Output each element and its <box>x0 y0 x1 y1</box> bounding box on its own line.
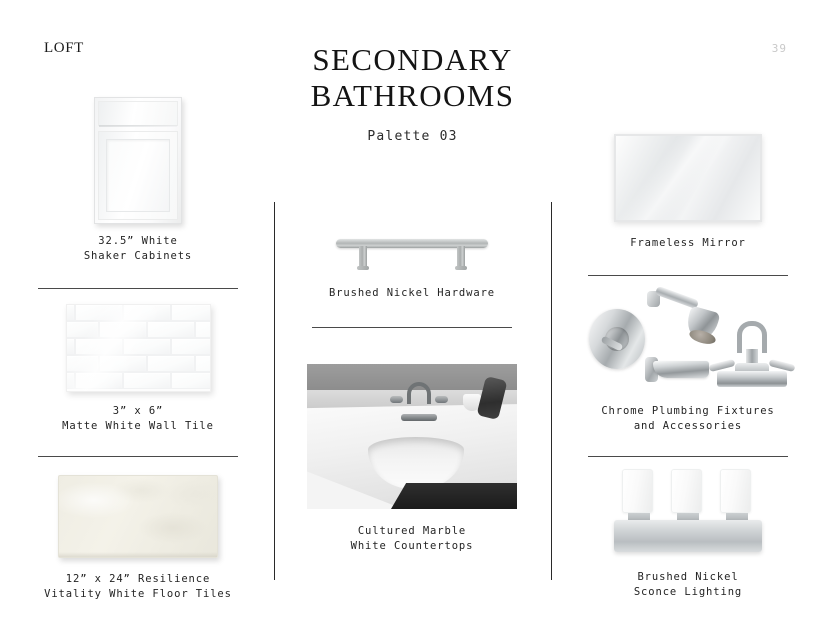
white-shaker-cabinet-door-icon <box>94 97 182 224</box>
mirror-figure <box>568 130 808 222</box>
tile-brick <box>66 304 75 321</box>
mood-board: LOFT 39 SECONDARY BATHROOMS Palette 03 3… <box>0 0 825 638</box>
lavatory-faucet-icon <box>713 321 791 387</box>
divider-left-1 <box>38 288 238 289</box>
tile-row <box>66 355 211 372</box>
shaker-cabinet-figure <box>18 74 258 224</box>
divider-left-2 <box>38 456 238 457</box>
divider-right-2 <box>588 456 788 457</box>
tile-row <box>66 372 211 389</box>
column-center: Brushed Nickel Hardware <box>292 0 532 638</box>
wall-tile-figure <box>18 300 258 392</box>
sconce-glass-shade <box>671 469 702 513</box>
sconce-backplate <box>614 520 762 552</box>
tile-brick <box>171 304 211 321</box>
divider-right-1 <box>588 275 788 276</box>
faucet-escutcheon <box>717 371 787 387</box>
hardware-figure <box>292 228 532 272</box>
cultured-marble-vanity-photo-icon <box>307 364 517 509</box>
tile-brick <box>123 372 171 389</box>
tile-brick <box>147 321 195 338</box>
caption-floor-tiles: 12” x 24” Resilience Vitality White Floo… <box>18 572 258 602</box>
divider-center-1 <box>312 327 512 328</box>
tile-brick <box>171 372 211 389</box>
faucet-handle <box>390 396 403 403</box>
faucet-handle <box>435 396 448 403</box>
countertop-figure <box>292 363 532 509</box>
caption-wall-tile: 3” x 6” Matte White Wall Tile <box>18 404 258 434</box>
tile-row <box>66 304 211 321</box>
column-divider-right <box>551 202 552 580</box>
sconce-glass-shade <box>720 469 751 513</box>
sconce-figure <box>568 474 808 556</box>
item-sconce[interactable]: Brushed Nickel Sconce Lighting <box>568 474 808 600</box>
floor-tile-figure <box>18 470 258 558</box>
item-plumbing[interactable]: Chrome Plumbing Fixtures and Accessories <box>568 284 808 457</box>
plumbing-figure <box>568 284 808 392</box>
cabinet-recessed-panel <box>106 139 170 212</box>
item-hardware[interactable]: Brushed Nickel Hardware <box>292 228 532 328</box>
cabinet-drawer-panel <box>98 101 178 126</box>
tile-brick <box>147 355 195 372</box>
tile-brick <box>171 338 211 355</box>
caption-hardware: Brushed Nickel Hardware <box>292 286 532 301</box>
white-subway-tile-swatch-icon <box>66 304 211 392</box>
caption-plumbing: Chrome Plumbing Fixtures and Accessories <box>568 404 808 434</box>
tile-brick <box>123 304 171 321</box>
tile-brick <box>75 304 123 321</box>
frameless-rectangular-mirror-icon <box>614 134 762 222</box>
caption-mirror: Frameless Mirror <box>568 236 808 251</box>
tile-brick <box>123 338 171 355</box>
pull-foot <box>455 266 467 270</box>
tile-brick <box>195 321 211 338</box>
faucet-base <box>401 414 437 421</box>
three-light-vanity-sconce-icon <box>608 478 768 556</box>
chrome-plumbing-fixture-group-icon <box>583 287 793 392</box>
item-countertops[interactable]: Cultured Marble White Countertops <box>292 363 532 554</box>
tile-brick <box>66 321 99 338</box>
item-wall-tile[interactable]: 3” x 6” Matte White Wall Tile <box>18 300 258 457</box>
tile-brick <box>99 355 147 372</box>
tile-brick <box>75 372 123 389</box>
item-floor-tiles[interactable]: 12” x 24” Resilience Vitality White Floo… <box>18 470 258 602</box>
tile-row <box>66 321 211 338</box>
caption-countertops: Cultured Marble White Countertops <box>292 524 532 554</box>
shower-arm <box>655 286 699 310</box>
item-shaker-cabinets[interactable]: 32.5” White Shaker Cabinets <box>18 74 258 289</box>
caption-shaker-cabinets: 32.5” White Shaker Cabinets <box>18 234 258 264</box>
column-divider-left <box>274 202 275 580</box>
tile-brick <box>66 372 75 389</box>
column-right: Frameless Mirror <box>568 0 808 638</box>
cabinet-door-panel <box>98 131 178 220</box>
pull-post <box>359 246 367 268</box>
caption-sconce: Brushed Nickel Sconce Lighting <box>568 570 808 600</box>
brushed-nickel-bar-pull-icon <box>336 232 488 272</box>
tile-brick <box>75 338 123 355</box>
beige-stone-floor-tile-swatch-icon <box>58 475 218 558</box>
tile-brick <box>195 355 211 372</box>
pull-post <box>457 246 465 268</box>
faucet-spout <box>407 382 431 404</box>
shower-valve-trim-icon <box>589 309 645 369</box>
tub-spout-icon <box>653 361 709 378</box>
sconce-glass-shade <box>622 469 653 513</box>
column-left: 32.5” White Shaker Cabinets <box>18 0 258 638</box>
photo-chrome-faucet <box>399 382 439 416</box>
tile-row <box>66 338 211 355</box>
tile-brick <box>66 338 75 355</box>
item-mirror[interactable]: Frameless Mirror <box>568 130 808 276</box>
tile-brick <box>99 321 147 338</box>
photo-counter-accessories <box>459 390 503 422</box>
pull-foot <box>357 266 369 270</box>
tile-brick <box>66 355 99 372</box>
photo-counter-edge <box>391 483 517 509</box>
